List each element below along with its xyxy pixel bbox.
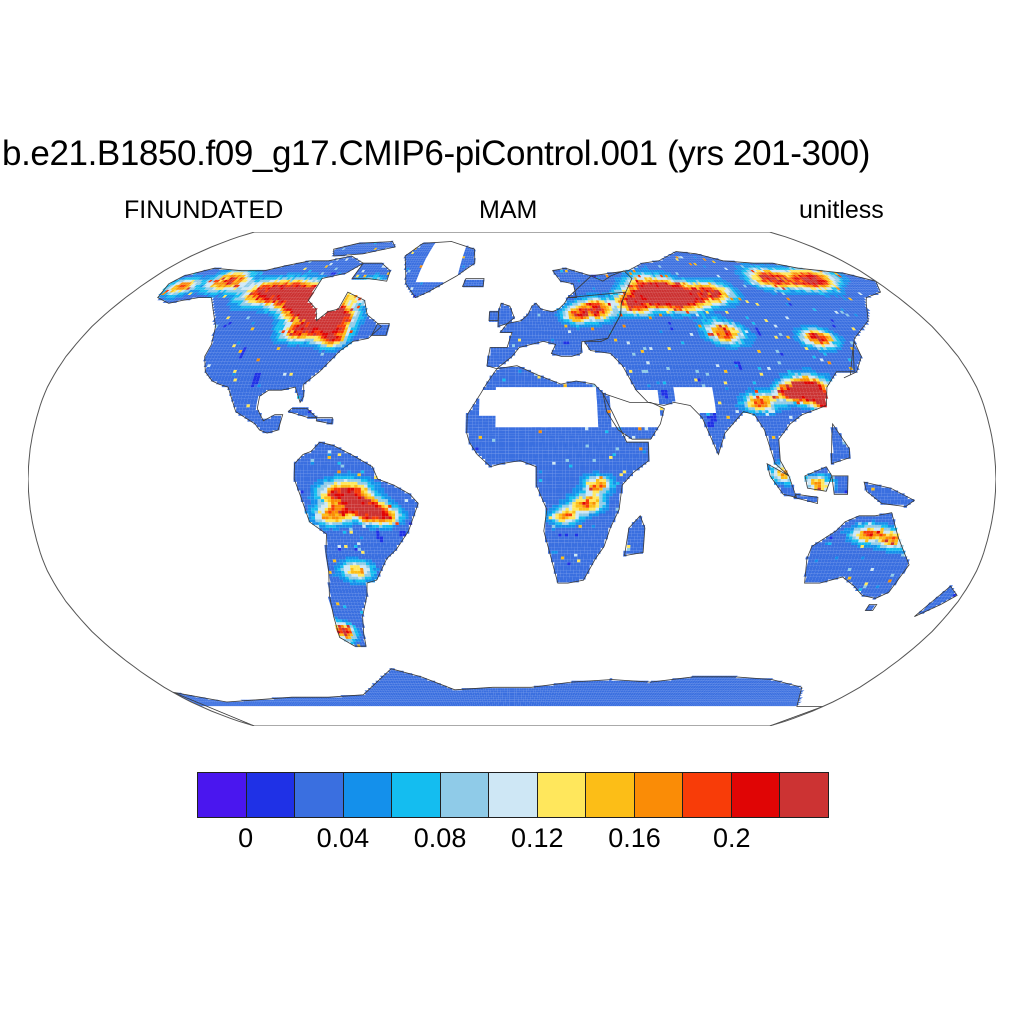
colorbar-segment-11	[732, 773, 781, 817]
colorbar[interactable]	[197, 772, 829, 818]
colorbar-tick-3: 0.12	[511, 822, 564, 854]
colorbar-segment-4	[392, 773, 441, 817]
colorbar-tick-1: 0.04	[317, 822, 370, 854]
colorbar-tick-4: 0.16	[608, 822, 661, 854]
data-grid-cells	[157, 241, 957, 706]
colorbar-segment-5	[441, 773, 490, 817]
map-canvas	[28, 232, 996, 726]
units-label: unitless	[799, 196, 884, 224]
colorbar-tick-5: 0.2	[713, 822, 751, 854]
colorbar-segment-10	[683, 773, 732, 817]
colorbar-segment-9	[635, 773, 684, 817]
colorbar-segment-12	[780, 773, 828, 817]
colorbar-segment-1	[247, 773, 296, 817]
colorbar-tick-2: 0.08	[414, 822, 467, 854]
variable-label: FINUNDATED	[124, 196, 283, 224]
colorbar-segment-6	[489, 773, 538, 817]
colorbar-segment-7	[538, 773, 587, 817]
season-label: MAM	[479, 196, 537, 224]
colorbar-tick-0: 0	[238, 822, 253, 854]
colorbar-segment-0	[198, 773, 247, 817]
colorbar-segment-3	[344, 773, 393, 817]
figure-root: b.e21.B1850.f09_g17.CMIP6-piControl.001 …	[0, 0, 1024, 1024]
figure-title: b.e21.B1850.f09_g17.CMIP6-piControl.001 …	[2, 134, 1022, 174]
colorbar-segment-8	[586, 773, 635, 817]
colorbar-segment-2	[295, 773, 344, 817]
world-map	[28, 232, 996, 726]
colorbar-tick-labels: 00.040.080.120.160.2	[197, 822, 829, 856]
